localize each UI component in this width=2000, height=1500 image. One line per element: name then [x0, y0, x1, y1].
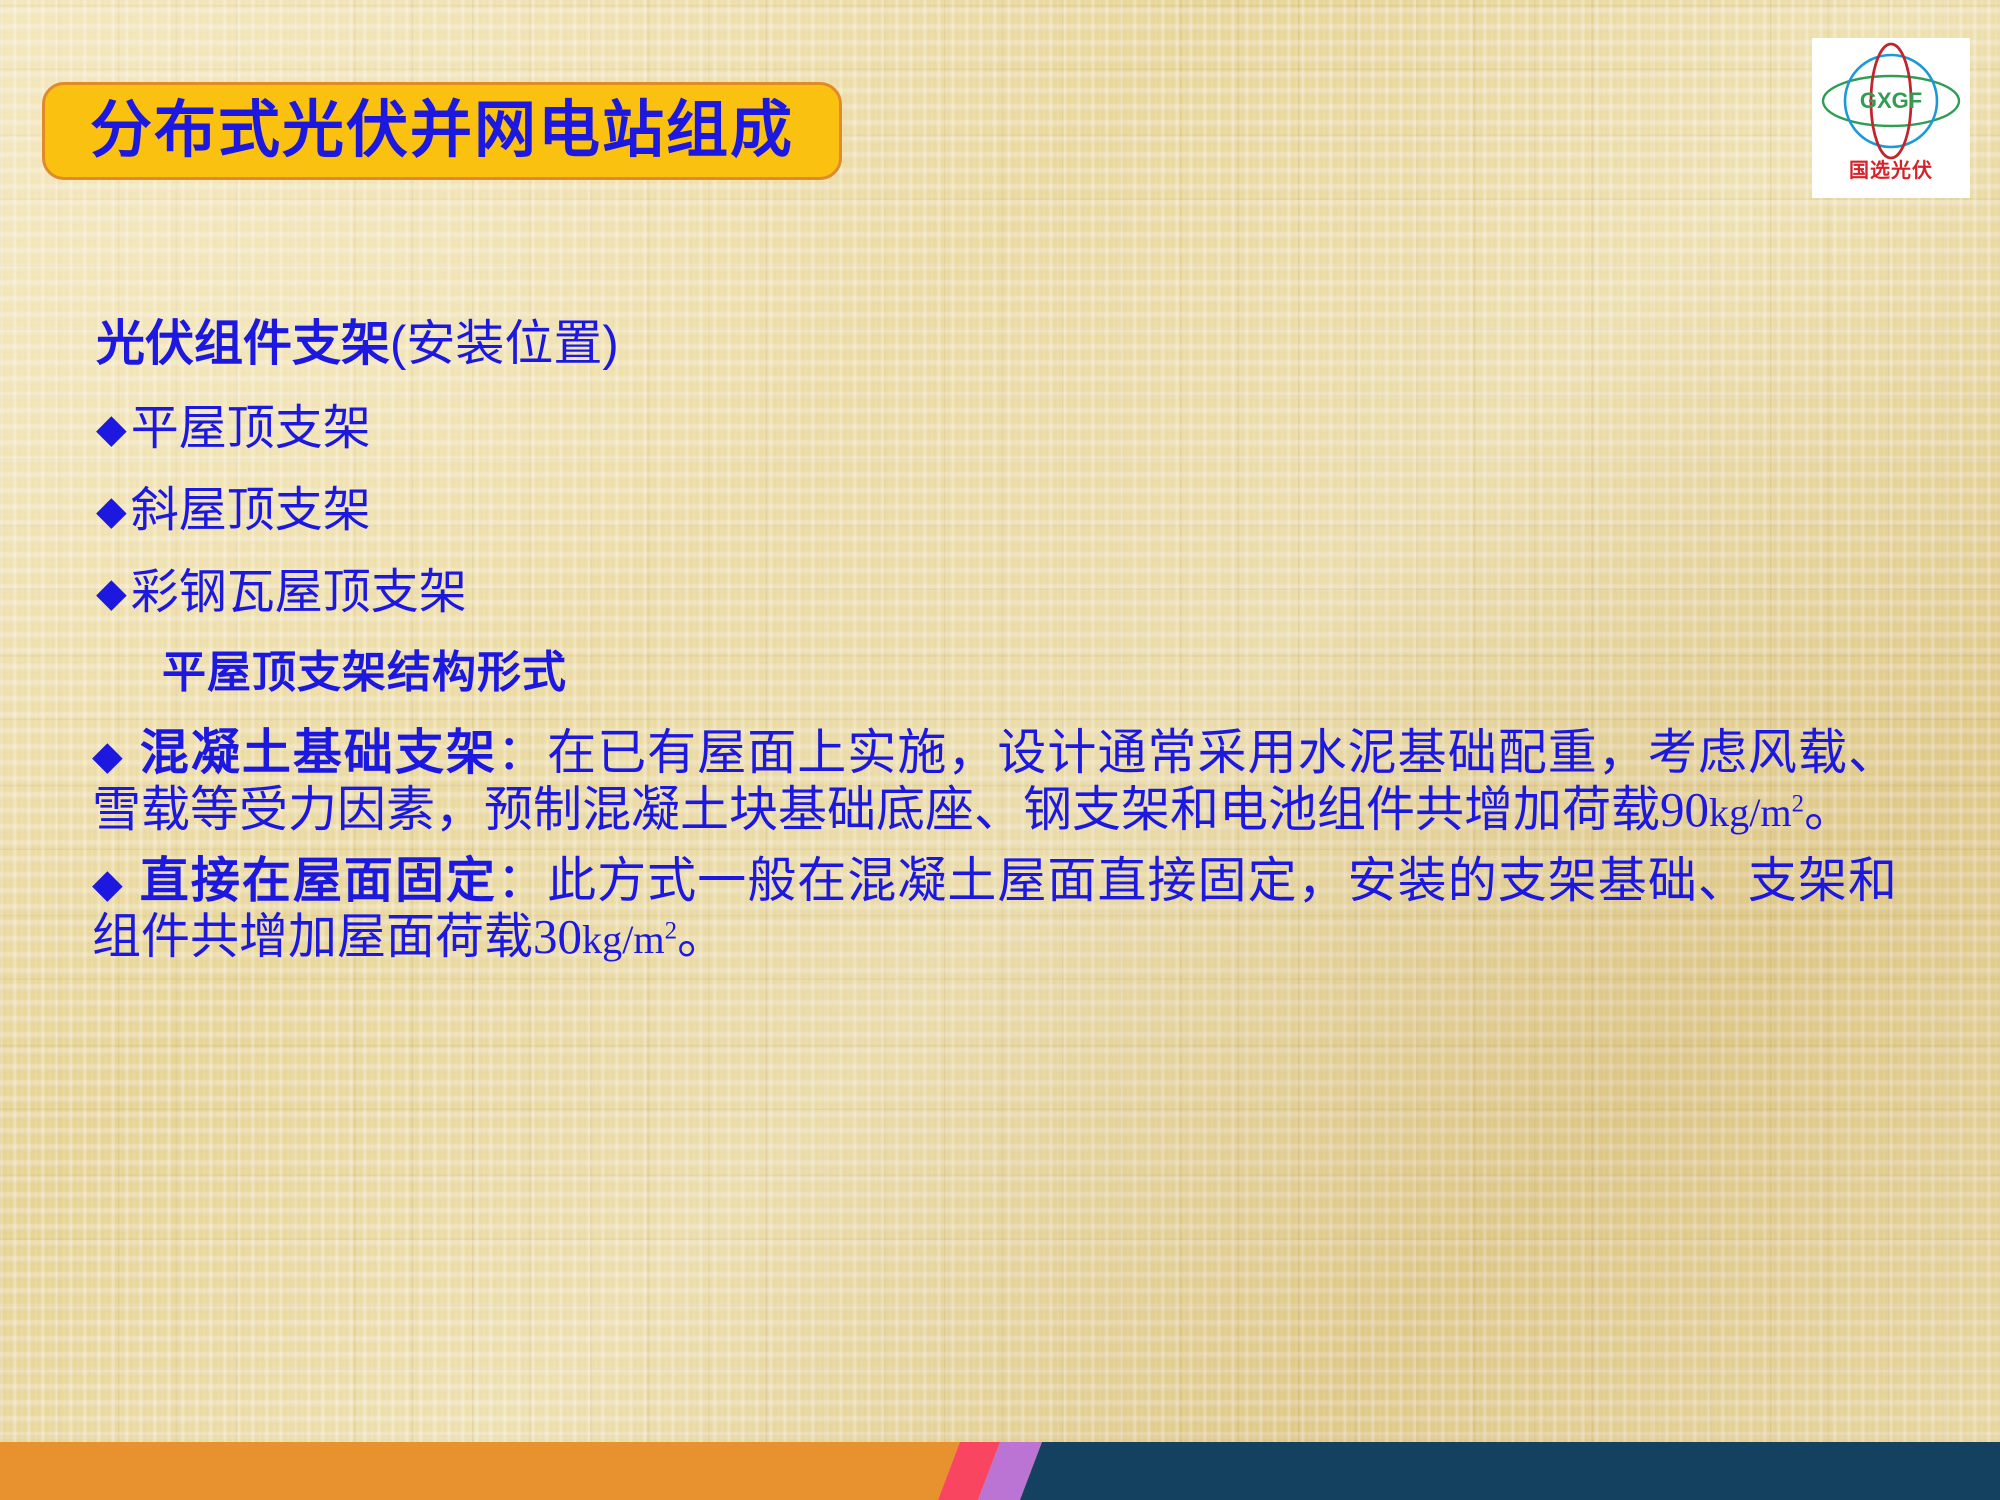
section-heading-bold: 光伏组件支架 [96, 317, 390, 371]
diamond-bullet-icon: ◆ [96, 409, 127, 449]
list-item: ◆平屋顶支架 [96, 405, 2000, 453]
list-item-label: 彩钢瓦屋顶支架 [131, 569, 467, 617]
list-item: ◆斜屋顶支架 [96, 487, 2000, 535]
unit-base: kg/m [1709, 790, 1792, 835]
unit-base: kg/m [582, 917, 665, 962]
page-title: 分布式光伏并网电站组成 [90, 100, 794, 162]
unit-exponent: 2 [1792, 790, 1804, 817]
diamond-bullet-icon: ◆ [96, 491, 127, 531]
globe-rings-icon: GXGF [1816, 42, 1966, 160]
paragraph-text-tail: 。 [1804, 783, 1853, 837]
logo-caption: 国选光伏 [1849, 161, 1933, 181]
slide-body: 光伏组件支架(安装位置) ◆平屋顶支架 ◆斜屋顶支架 ◆彩钢瓦屋顶支架 平屋顶支… [0, 320, 2000, 980]
company-logo: GXGF 国选光伏 [1812, 38, 1970, 198]
footer-stripes-icon [0, 1442, 2000, 1500]
sub-heading: 平屋顶支架结构形式 [162, 651, 2000, 695]
section-heading: 光伏组件支架(安装位置) [96, 320, 2000, 369]
paragraph-colon: ： [497, 726, 547, 780]
slide: 分布式光伏并网电站组成 GXGF 国选光伏 光伏组件支架(安装位置) ◆平屋顶支… [0, 0, 2000, 1500]
paragraph-concrete-foundation: ◆混凝土基础支架：在已有屋面上实施，设计通常采用水泥基础配重，考虑风载、雪载等受… [92, 725, 1897, 839]
paragraph-colon: ： [497, 854, 547, 908]
paragraph-value: 30 [533, 909, 582, 964]
paragraph-lead: 直接在屋面固定 [140, 854, 497, 908]
paragraph-unit: kg/m2 [582, 917, 677, 962]
footer-decoration-bar [0, 1442, 2000, 1500]
list-item-label: 平屋顶支架 [131, 405, 371, 453]
paragraph-lead: 混凝土基础支架 [140, 726, 497, 780]
footer-segment-navy [1020, 1442, 2000, 1500]
unit-exponent: 2 [665, 918, 677, 945]
paragraph-unit: kg/m2 [1709, 790, 1804, 835]
diamond-bullet-icon: ◆ [92, 862, 124, 906]
diamond-bullet-icon: ◆ [92, 734, 124, 778]
list-item-label: 斜屋顶支架 [131, 487, 371, 535]
list-item: ◆彩钢瓦屋顶支架 [96, 569, 2000, 617]
footer-segment-orange [0, 1442, 960, 1500]
paragraph-direct-roof-fixing: ◆直接在屋面固定：此方式一般在混凝土屋面直接固定，安装的支架基础、支架和组件共增… [92, 853, 1897, 967]
logo-acronym: GXGF [1860, 88, 1922, 113]
slide-title-box: 分布式光伏并网电站组成 [42, 82, 842, 180]
paragraph-value: 90 [1660, 782, 1709, 837]
diamond-bullet-icon: ◆ [96, 573, 127, 613]
section-heading-thin: (安装位置) [390, 317, 619, 371]
paragraph-text-tail: 。 [677, 910, 726, 964]
